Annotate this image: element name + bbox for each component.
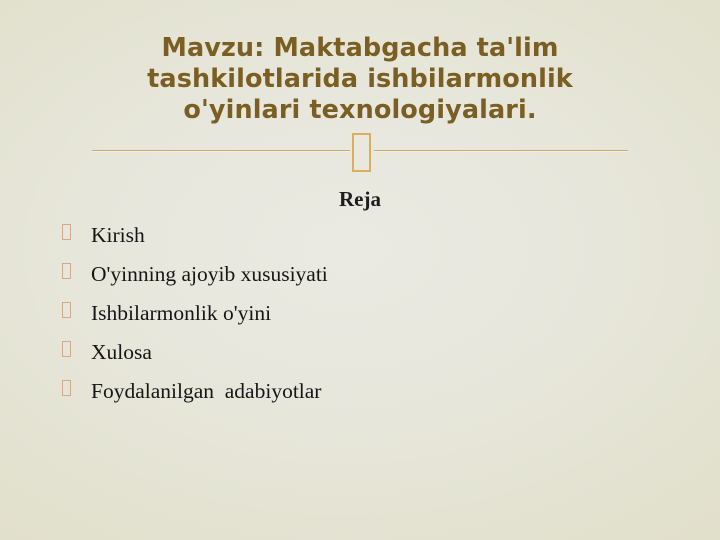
divider-rectangle-icon bbox=[352, 133, 371, 172]
list-item-label: Ishbilarmonlik o'yini bbox=[91, 300, 271, 326]
bullet-box-icon bbox=[62, 341, 71, 357]
list-item: O'yinning ajoyib xususiyati bbox=[58, 261, 678, 300]
section-heading: Reja bbox=[0, 186, 720, 212]
presentation-slide: Mavzu: Maktabgacha ta'lim tashkilotlarid… bbox=[0, 0, 720, 540]
bullet-box-icon bbox=[62, 380, 71, 396]
list-item-label: Kirish bbox=[91, 222, 145, 248]
list-item-label: O'yinning ajoyib xususiyati bbox=[91, 261, 328, 287]
list-item: Ishbilarmonlik o'yini bbox=[58, 300, 678, 339]
agenda-list: Kirish O'yinning ajoyib xususiyati Ishbi… bbox=[58, 222, 678, 417]
slide-title: Mavzu: Maktabgacha ta'lim tashkilotlarid… bbox=[60, 33, 660, 126]
title-line-3: o'yinlari texnologiyalari. bbox=[60, 95, 660, 126]
bullet-box-icon bbox=[62, 224, 71, 240]
decorative-divider bbox=[0, 133, 720, 175]
list-item: Kirish bbox=[58, 222, 678, 261]
list-item-label: Foydalanilgan adabiyotlar bbox=[91, 378, 321, 404]
title-line-1: Mavzu: Maktabgacha ta'lim bbox=[60, 33, 660, 64]
divider-line-left bbox=[92, 150, 350, 152]
title-line-2: tashkilotlarida ishbilarmonlik bbox=[60, 64, 660, 95]
list-item: Foydalanilgan adabiyotlar bbox=[58, 378, 678, 417]
bullet-box-icon bbox=[62, 302, 71, 318]
list-item: Xulosa bbox=[58, 339, 678, 378]
bullet-box-icon bbox=[62, 263, 71, 279]
list-item-label: Xulosa bbox=[91, 339, 152, 365]
divider-line-right bbox=[374, 150, 628, 152]
